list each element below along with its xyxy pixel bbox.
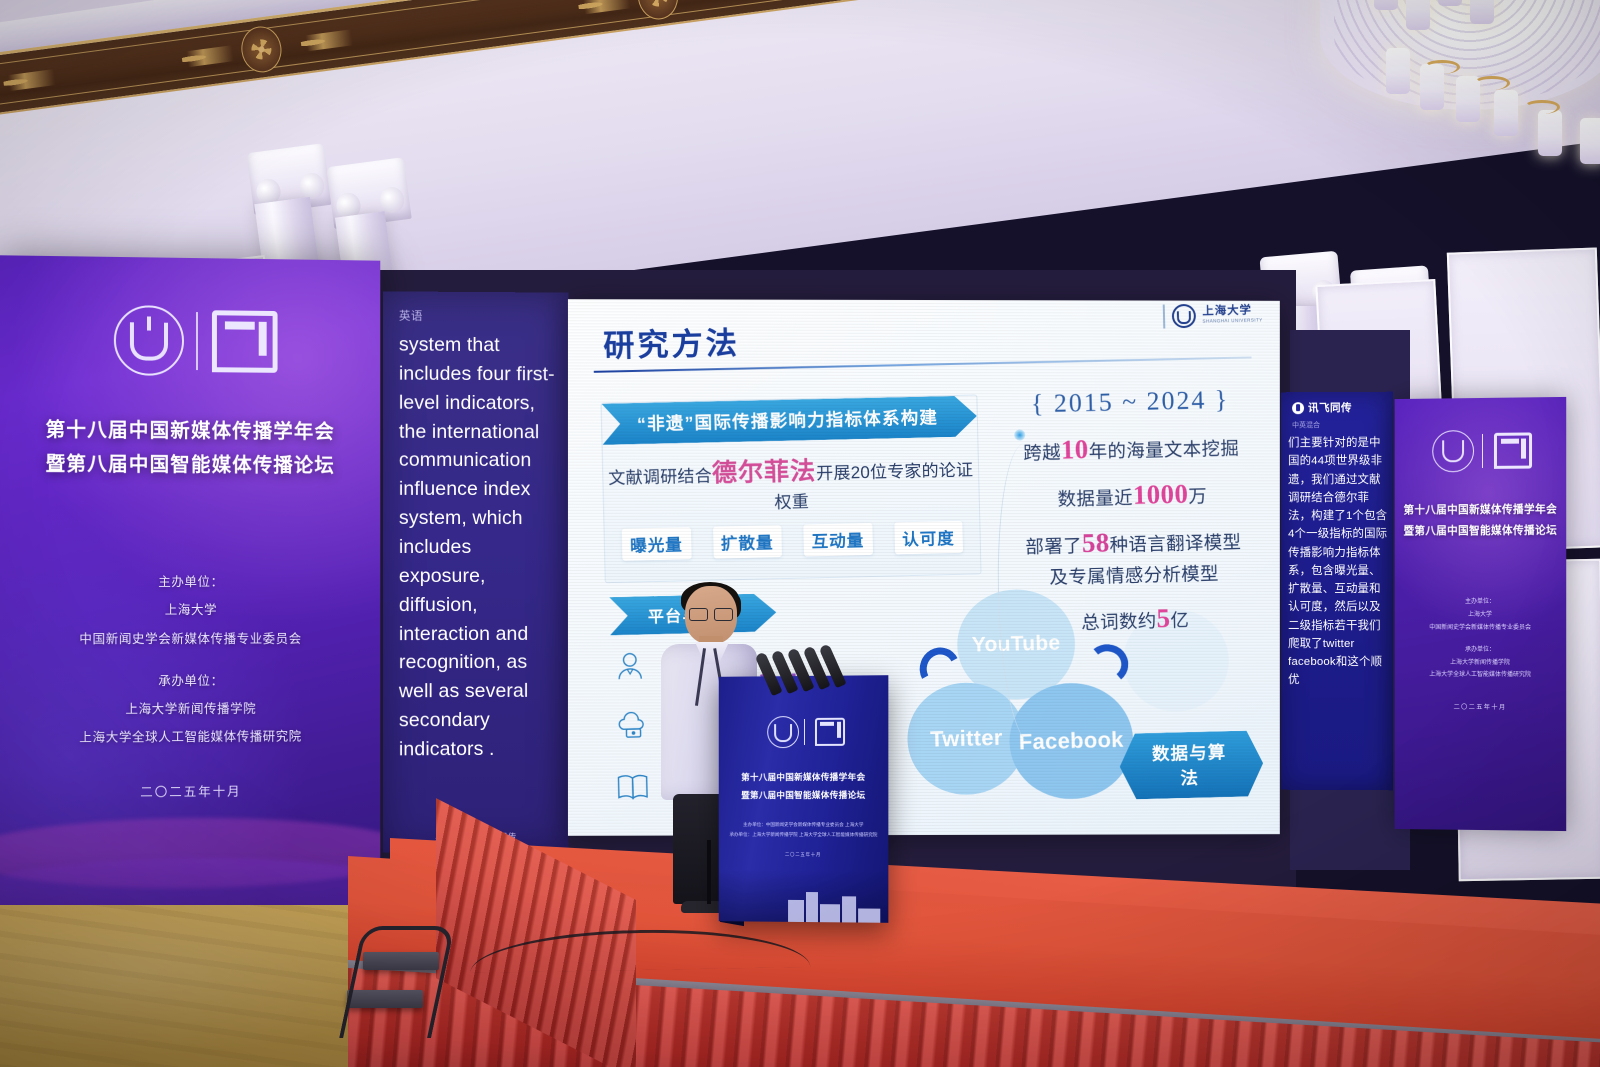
iflytek-brand: 讯飞同传 [1292, 400, 1388, 415]
su-seal-icon [114, 305, 184, 376]
su-seal-icon [1171, 304, 1195, 328]
left-event-banner: 第十八届中国新媒体传播学年会 暨第八届中国智能媒体传播论坛 主办单位： 上海大学… [0, 255, 380, 972]
chinese-subtitle-panel: 讯飞同传 中英混合 们主要针对的是中 国的44项世界级非 遗，我们通过文献 调研… [1281, 392, 1393, 791]
stat-number: 10 [1061, 434, 1089, 465]
banner-organizers: 主办单位： 上海大学 中国新闻史学会新媒体传播专业委员会 承办单位： 上海大学新… [0, 568, 380, 752]
banner-title: 第十八届中国新媒体传播学年会 暨第八届中国智能媒体传播论坛 [1395, 499, 1567, 542]
indicator-chip: 曝光量 [622, 527, 692, 561]
podium: 第十八届中国新媒体传播学年会 暨第八届中国智能媒体传播论坛 主办单位：中国新闻史… [719, 675, 889, 923]
stat-number: 58 [1082, 527, 1110, 558]
podium-date: 二〇二五年十月 [719, 852, 889, 859]
chandelier-icon [1290, 0, 1600, 200]
cloud-data-icon [614, 711, 649, 742]
methodology-headline: 文献调研结合德尔菲法开展20位专家的论证权重 [603, 447, 979, 517]
su-seal-icon [1432, 430, 1474, 472]
indicator-system-banner: “非遗”国际传播影响力指标体系构建 [602, 396, 978, 445]
indicator-system-card: “非遗”国际传播影响力指标体系构建 文献调研结合德尔菲法开展20位专家的论证权重… [601, 394, 982, 583]
english-subtitle-panel: 英语 system that includes four first-level… [383, 291, 569, 852]
indicator-chip: 扩散量 [713, 525, 782, 559]
banner-date: 二〇二五年十月 [1395, 702, 1567, 712]
indicator-chip: 互动量 [803, 523, 872, 557]
su-seal-icon [767, 716, 799, 748]
forum-mark-icon [1494, 432, 1532, 468]
subtitle-language-tag: 英语 [399, 308, 555, 325]
podium-logo [757, 716, 849, 750]
stat-number: 5 [1156, 603, 1171, 633]
banner-date: 二〇二五年十月 [0, 780, 380, 802]
podium-skyline-graphic [719, 870, 889, 923]
forum-mark-icon [815, 718, 845, 746]
data-algorithm-cta: 数据与算法 [1119, 730, 1264, 799]
stage-steps [345, 912, 465, 1042]
banner-title: 第十八届中国新媒体传播学年会 暨第八届中国智能媒体传播论坛 [0, 412, 380, 483]
iflytek-brand-label: 讯飞同传 [1308, 400, 1352, 415]
subtitle-text: system that includes four first-level in… [399, 331, 555, 765]
banner-organizers: 主办单位： 上海大学 中国新闻史学会新媒体传播专业委员会 承办单位： 上海大学新… [1395, 596, 1567, 682]
data-algorithm-cta-wrap: 数据与算法 [1119, 730, 1264, 799]
indicator-chip-row: 曝光量 扩散量 互动量 认可度 [605, 520, 980, 561]
data-stats-card: { 2015 ~ 2024 } 跨越10年的海量文本挖掘 数据量近1000万 部… [999, 384, 1266, 638]
forum-mark-icon [212, 310, 278, 373]
shanghai-university-logo [96, 305, 286, 381]
subtitle-text: 们主要针对的是中 国的44项世界级非 遗，我们通过文献 调研结合德尔菲 法，构建… [1288, 434, 1388, 690]
iflytek-logo-icon [1292, 402, 1304, 414]
book-icon [615, 771, 650, 802]
conference-photo-scene: 第十八届中国新媒体传播学年会 暨第八届中国智能媒体传播论坛 主办单位： 上海大学… [0, 0, 1600, 1067]
glasses-icon [689, 608, 733, 619]
slide-title: 研究方法 [603, 318, 741, 366]
microphone-cluster [772, 640, 892, 696]
person-icon [612, 650, 647, 681]
indicator-chip: 认可度 [894, 521, 963, 555]
podium-organizers: 主办单位：中国新闻史学会新媒体传播专业委员会 上海大学 承办单位：上海大学新闻传… [719, 820, 889, 841]
right-event-banner: 第十八届中国新媒体传播学年会 暨第八届中国智能媒体传播论坛 主办单位： 上海大学… [1395, 397, 1567, 831]
subtitle-mode-tag: 中英混合 [1292, 420, 1388, 430]
platform-icon-column [612, 650, 650, 801]
stat-number: 1000 [1133, 479, 1189, 510]
delphi-highlight: 德尔菲法 [712, 457, 817, 487]
shanghai-university-logo [1426, 429, 1534, 474]
slide-university-mark: 上海大学 SHANGHAI UNIVERSITY [1162, 302, 1262, 328]
step-handrail [339, 926, 455, 1038]
podium-title: 第十八届中国新媒体传播学年会 暨第八届中国智能媒体传播论坛 [719, 768, 889, 804]
year-range: { 2015 ~ 2024 } [999, 384, 1261, 420]
curved-arrow-icon [1085, 643, 1130, 686]
